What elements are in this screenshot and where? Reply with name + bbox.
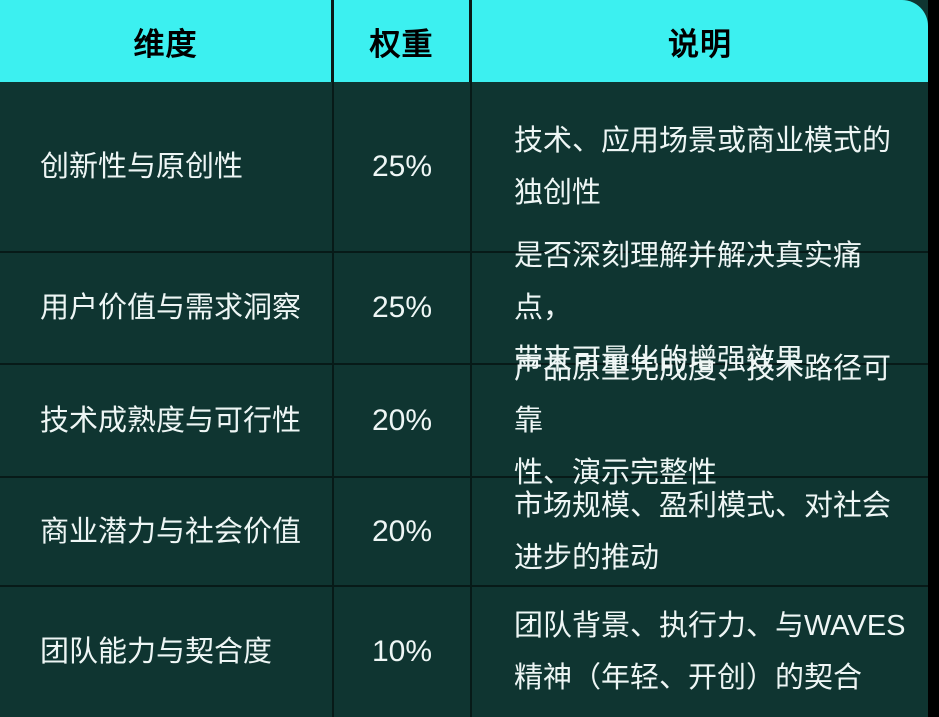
cell-dimension: 商业潜力与社会价值 [0, 478, 334, 585]
table-row: 创新性与原创性 25% 技术、应用场景或商业模式的 独创性 [0, 82, 928, 253]
weight-text: 10% [372, 626, 432, 678]
dimension-text: 创新性与原创性 [40, 141, 243, 193]
cell-weight: 10% [334, 587, 472, 717]
cell-description: 产品原型完成度、技术路径可靠 性、演示完整性 [472, 365, 928, 476]
cell-description: 技术、应用场景或商业模式的 独创性 [472, 82, 928, 251]
dimension-text: 技术成熟度与可行性 [40, 395, 301, 447]
column-header-dimension-label: 维度 [134, 19, 198, 64]
column-header-weight-label: 权重 [370, 19, 434, 64]
table-row: 商业潜力与社会价值 20% 市场规模、盈利模式、对社会 进步的推动 [0, 478, 928, 587]
scoring-criteria-table: 维度 权重 说明 创新性与原创性 25% 技术、应用场景或商业模式的 独创性 [0, 0, 928, 717]
description-text: 产品原型完成度、技术路径可靠 性、演示完整性 [514, 343, 914, 499]
screenshot-canvas: 维度 权重 说明 创新性与原创性 25% 技术、应用场景或商业模式的 独创性 [0, 0, 939, 717]
cell-dimension: 技术成熟度与可行性 [0, 365, 334, 476]
cell-weight: 25% [334, 253, 472, 363]
table-body: 创新性与原创性 25% 技术、应用场景或商业模式的 独创性 用户价值与需求洞察 … [0, 82, 928, 717]
dimension-text: 团队能力与契合度 [40, 626, 272, 678]
description-text: 市场规模、盈利模式、对社会 进步的推动 [514, 480, 891, 584]
cell-dimension: 团队能力与契合度 [0, 587, 334, 717]
weight-text: 20% [372, 395, 432, 447]
cell-description: 市场规模、盈利模式、对社会 进步的推动 [472, 478, 928, 585]
description-text: 技术、应用场景或商业模式的 独创性 [514, 115, 891, 219]
canvas-right-margin [928, 0, 939, 717]
column-header-dimension: 维度 [0, 0, 334, 82]
column-header-description-label: 说明 [668, 19, 732, 64]
description-text: 团队背景、执行力、与WAVES 精神（年轻、开创）的契合 [514, 600, 906, 704]
column-header-weight: 权重 [334, 0, 472, 82]
cell-weight: 25% [334, 82, 472, 251]
cell-weight: 20% [334, 365, 472, 476]
table-header-row: 维度 权重 说明 [0, 0, 928, 82]
weight-text: 20% [372, 506, 432, 558]
weight-text: 25% [372, 141, 432, 193]
dimension-text: 商业潜力与社会价值 [40, 506, 301, 558]
table-row: 团队能力与契合度 10% 团队背景、执行力、与WAVES 精神（年轻、开创）的契… [0, 587, 928, 717]
cell-description: 团队背景、执行力、与WAVES 精神（年轻、开创）的契合 [472, 587, 928, 717]
cell-dimension: 创新性与原创性 [0, 82, 334, 251]
cell-weight: 20% [334, 478, 472, 585]
column-header-description: 说明 [472, 0, 928, 82]
weight-text: 25% [372, 282, 432, 334]
cell-dimension: 用户价值与需求洞察 [0, 253, 334, 363]
dimension-text: 用户价值与需求洞察 [40, 282, 301, 334]
table-row: 技术成熟度与可行性 20% 产品原型完成度、技术路径可靠 性、演示完整性 [0, 365, 928, 478]
